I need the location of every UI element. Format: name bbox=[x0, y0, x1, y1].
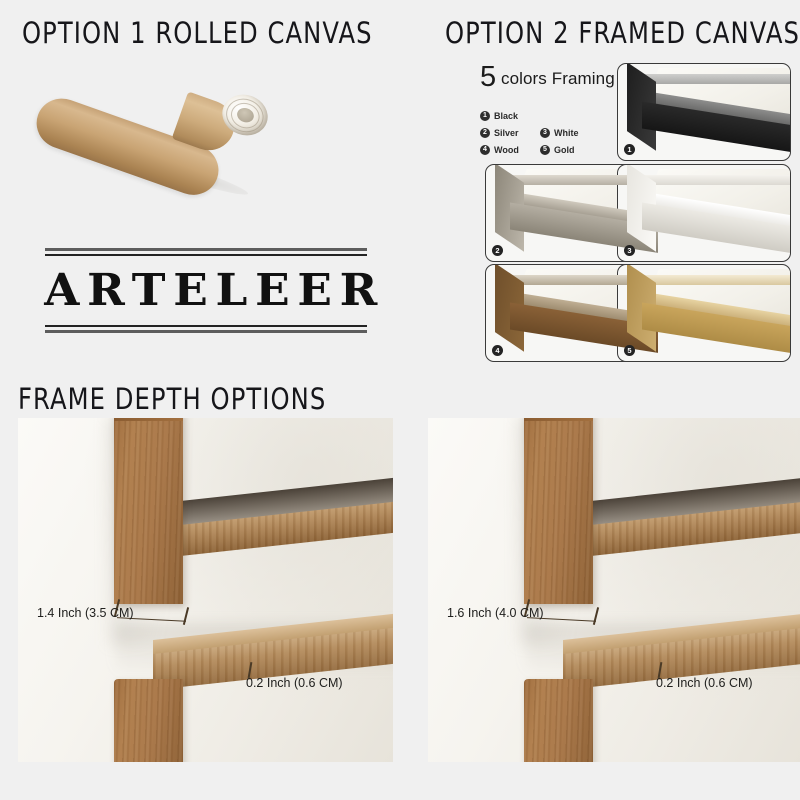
canvas-depth-label-right: 0.2 Inch (0.6 CM) bbox=[656, 676, 753, 690]
legend-item-white[interactable]: 3 White bbox=[540, 128, 579, 138]
badge-3-icon: 3 bbox=[540, 128, 550, 138]
frame-depth-photo-right: 1.6 Inch (4.0 CM) 0.2 Inch (0.6 CM) bbox=[428, 418, 800, 762]
legend-item-wood[interactable]: 4 Wood bbox=[480, 145, 526, 155]
rolled-canvas-tube-illustration bbox=[30, 62, 300, 202]
badge-1-icon: 1 bbox=[480, 111, 490, 121]
swatch-badge-1-icon: 1 bbox=[624, 144, 635, 155]
legend-label-black: Black bbox=[494, 111, 518, 121]
frame-depth-label-right: 1.6 Inch (4.0 CM) bbox=[447, 606, 544, 620]
option2-heading: OPTION 2 FRAMED CANVAS bbox=[445, 16, 800, 50]
legend-item-gold[interactable]: 5 Gold bbox=[540, 145, 575, 155]
legend-label-wood: Wood bbox=[494, 145, 519, 155]
brand-logo: ARTELEER bbox=[45, 248, 367, 333]
photo-wall-background bbox=[428, 418, 800, 762]
legend-label-gold: Gold bbox=[554, 145, 575, 155]
frame-post-top-face bbox=[114, 418, 183, 421]
legend-label-silver: Silver bbox=[494, 128, 519, 138]
canvas-vertical-post bbox=[114, 679, 183, 762]
canvas-depth-label-left: 0.2 Inch (0.6 CM) bbox=[246, 676, 343, 690]
frame-depth-photo-left: 1.4 Inch (3.5 CM) 0.2 Inch (0.6 CM) bbox=[18, 418, 393, 762]
frame-depth-heading: FRAME DEPTH OPTIONS bbox=[18, 382, 326, 416]
logo-rule-top bbox=[45, 248, 367, 256]
swatch-inner-lip bbox=[638, 275, 791, 285]
swatch-inner-lip bbox=[638, 74, 791, 84]
swatch-badge-4-icon: 4 bbox=[492, 345, 503, 356]
swatch-badge-2-icon: 2 bbox=[492, 245, 503, 256]
frame-depth-label-left: 1.4 Inch (3.5 CM) bbox=[37, 606, 134, 620]
frame-swatch-black[interactable]: 1 bbox=[617, 63, 791, 161]
framing-color-count: 5 bbox=[480, 61, 496, 93]
badge-2-icon: 2 bbox=[480, 128, 490, 138]
swatch-badge-3-icon: 3 bbox=[624, 245, 635, 256]
infographic-page: OPTION 1 ROLLED CANVAS ARTELEER OPTION 2… bbox=[0, 0, 800, 800]
option1-heading: OPTION 1 ROLLED CANVAS bbox=[22, 16, 373, 50]
frame-post-top-face bbox=[524, 418, 593, 421]
frame-vertical-post bbox=[114, 418, 183, 604]
canvas-vertical-post bbox=[524, 679, 593, 762]
badge-4-icon: 4 bbox=[480, 145, 490, 155]
legend-label-white: White bbox=[554, 128, 579, 138]
legend-item-silver[interactable]: 2 Silver bbox=[480, 128, 526, 138]
brand-name: ARTELEER bbox=[40, 256, 372, 325]
photo-wall-background bbox=[18, 418, 393, 762]
swatch-badge-5-icon: 5 bbox=[624, 345, 635, 356]
framing-legend-title-text: colors Framing bbox=[496, 69, 615, 88]
swatch-inner-lip bbox=[638, 175, 791, 185]
logo-rule-bottom bbox=[45, 325, 367, 333]
badge-5-icon: 5 bbox=[540, 145, 550, 155]
frame-vertical-post bbox=[524, 418, 593, 604]
legend-item-black[interactable]: 1 Black bbox=[480, 111, 526, 121]
